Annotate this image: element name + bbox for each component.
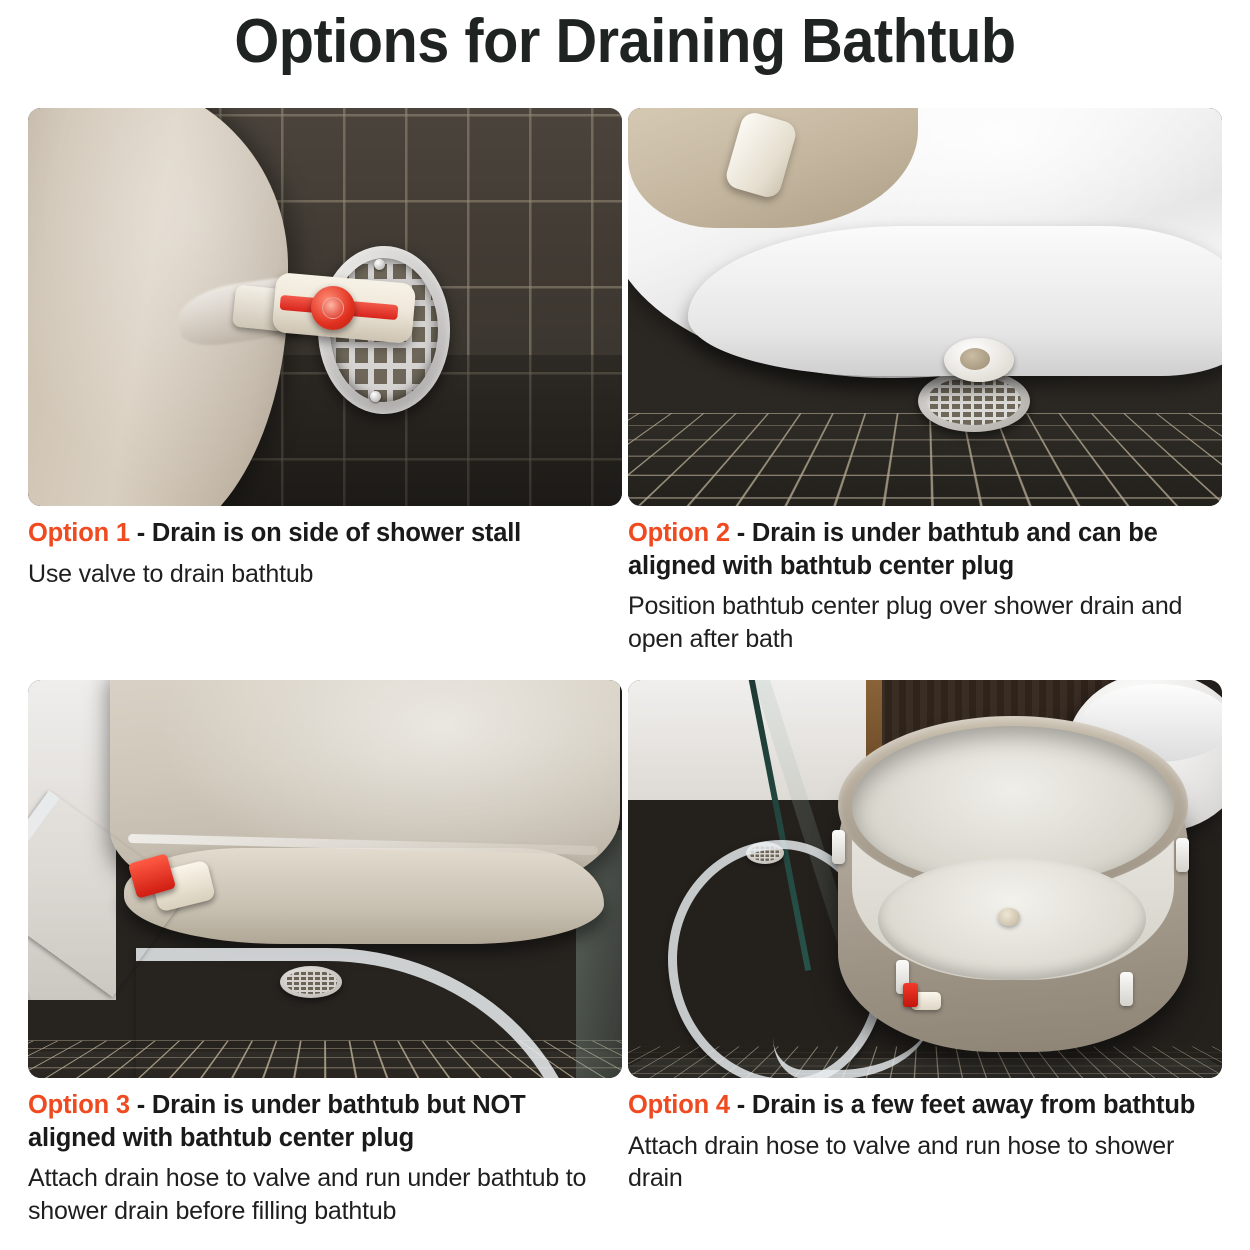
option-3-photo (28, 680, 622, 1078)
option-3-caption: Option 3 - Drain is under bathtub but NO… (28, 1078, 618, 1227)
option-4-body: Attach drain hose to valve and run hose … (628, 1130, 1218, 1195)
option-1-label: Option 1 (28, 519, 130, 547)
option-2-body: Position bathtub center plug over shower… (628, 590, 1218, 655)
option-1-photo (28, 108, 622, 506)
drain-grate-holes (927, 377, 1021, 425)
option-1-headline: Option 1 - Drain is on side of shower st… (28, 517, 618, 550)
option-4-label: Option 4 (628, 1091, 730, 1119)
option-1-body: Use valve to drain bathtub (28, 558, 618, 591)
page-title: Options for Draining Bathtub (44, 6, 1207, 77)
option-4-separator: - (730, 1091, 752, 1119)
option-2-separator: - (730, 519, 752, 547)
drain-screw-icon (374, 259, 385, 270)
drain-screw-icon (370, 391, 381, 402)
option-card-3: Option 3 - Drain is under bathtub but NO… (28, 680, 622, 1250)
option-card-1: Option 1 - Drain is on side of shower st… (28, 108, 622, 680)
option-1-separator: - (130, 519, 152, 547)
bathtub-center-plug (944, 338, 1014, 382)
option-2-photo (628, 108, 1222, 506)
option-3-body: Attach drain hose to valve and run under… (28, 1162, 618, 1227)
option-3-headline: Option 3 - Drain is under bathtub but NO… (28, 1089, 618, 1154)
option-3-label: Option 3 (28, 1091, 130, 1119)
option-4-caption: Option 4 - Drain is a few feet away from… (628, 1078, 1218, 1195)
option-4-headline: Option 4 - Drain is a few feet away from… (628, 1089, 1218, 1122)
drain-valve-red-handle (311, 286, 355, 330)
option-1-headline-text: Drain is on side of shower stall (152, 519, 521, 547)
option-3-separator: - (130, 1091, 152, 1119)
options-grid: Option 1 - Drain is on side of shower st… (28, 108, 1222, 1248)
bathtub-support-clip (832, 830, 845, 864)
bathtub-support-clip (1176, 838, 1189, 872)
option-2-headline: Option 2 - Drain is under bathtub and ca… (628, 517, 1218, 582)
option-4-headline-text: Drain is a few feet away from bathtub (752, 1091, 1195, 1119)
option-card-2: Option 2 - Drain is under bathtub and ca… (628, 108, 1222, 680)
bathtub-center-plug (998, 908, 1020, 926)
option-4-photo (628, 680, 1222, 1078)
infographic-page: Options for Draining Bathtub (0, 0, 1250, 1250)
drain-valve-red-handle (903, 983, 918, 1007)
option-2-label: Option 2 (628, 519, 730, 547)
bathtub-support-clip (1120, 972, 1133, 1006)
option-1-caption: Option 1 - Drain is on side of shower st… (28, 506, 618, 590)
option-2-caption: Option 2 - Drain is under bathtub and ca… (628, 506, 1218, 655)
option-card-4: Option 4 - Drain is a few feet away from… (628, 680, 1222, 1250)
